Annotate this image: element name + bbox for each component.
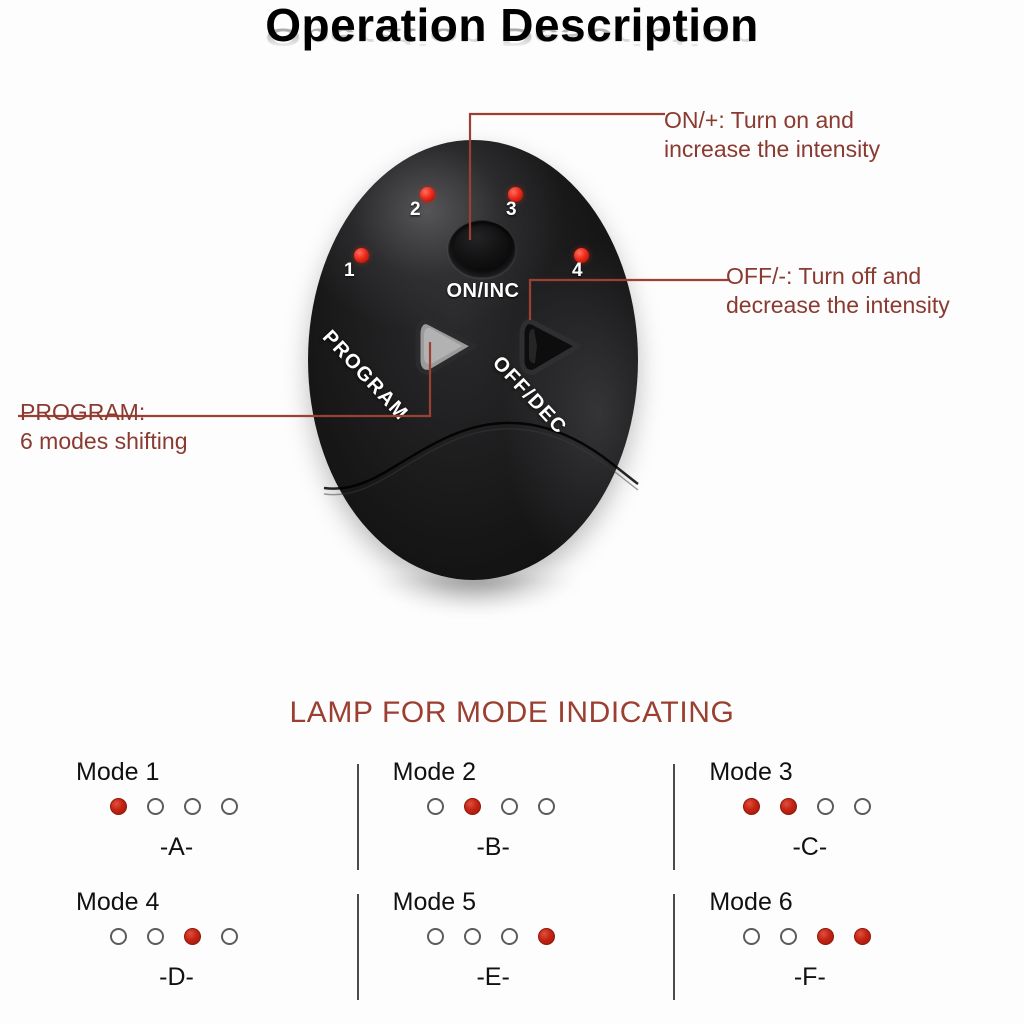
page-title-block: Operation Description Operation Descript… — [0, 2, 1024, 96]
lamp-6-1 — [743, 928, 760, 945]
mode-title-5: Mode 5 — [393, 888, 674, 917]
mode-letter-3: -C- — [717, 833, 902, 862]
on-inc-button[interactable] — [448, 220, 516, 278]
mode-cell-5: Mode 5 -E- — [357, 888, 674, 1018]
lamp-6-2 — [780, 928, 797, 945]
mode-letter-2: -B- — [401, 833, 586, 862]
program-button-label: PROGRAM — [317, 326, 412, 426]
mode-title-3: Mode 3 — [709, 758, 990, 787]
led-indicator-2 — [420, 187, 435, 202]
callout-on-plus-line1: ON/+: Turn on and — [664, 106, 880, 135]
device-seam-line — [318, 402, 644, 522]
lamp-4-2 — [147, 928, 164, 945]
on-inc-button-label: ON/INC — [418, 280, 548, 303]
mode-cell-1: Mode 1 -A- — [40, 758, 357, 888]
led-indicator-1 — [354, 248, 369, 263]
device-illustration: 1 2 3 4 ON/INC PROGRAM OFF/DEC — [300, 140, 660, 660]
lamp-3-3 — [817, 798, 834, 815]
lamp-row-2 — [427, 791, 674, 821]
mode-grid: Mode 1 -A- Mode 2 -B- Mode 3 -C- Mode 4 — [40, 758, 990, 1018]
mode-cell-6: Mode 6 -F- — [673, 888, 990, 1018]
callout-program-line2: 6 modes shifting — [20, 427, 187, 456]
page-title: Operation Description — [0, 2, 1024, 48]
lamp-2-1 — [427, 798, 444, 815]
device-body: 1 2 3 4 ON/INC PROGRAM OFF/DEC — [308, 140, 638, 580]
lamp-5-1 — [427, 928, 444, 945]
program-button[interactable] — [412, 312, 472, 372]
mode-cell-4: Mode 4 -D- — [40, 888, 357, 1018]
lamp-2-2 — [464, 798, 481, 815]
callout-on-plus: ON/+: Turn on and increase the intensity — [664, 106, 880, 165]
lamp-row-5 — [427, 921, 674, 951]
mode-cell-3: Mode 3 -C- — [673, 758, 990, 888]
led-label-4: 4 — [572, 260, 583, 282]
lamp-row-1 — [110, 791, 357, 821]
device-reflection — [340, 576, 610, 656]
mode-title-4: Mode 4 — [76, 888, 357, 917]
led-label-1: 1 — [344, 260, 355, 282]
callout-program-line1: PROGRAM: — [20, 398, 187, 427]
mode-letter-4: -D- — [84, 963, 269, 992]
lamp-section-heading: LAMP FOR MODE INDICATING — [0, 696, 1024, 730]
lamp-1-4 — [221, 798, 238, 815]
mode-letter-6: -F- — [717, 963, 902, 992]
mode-title-6: Mode 6 — [709, 888, 990, 917]
lamp-3-4 — [854, 798, 871, 815]
lamp-6-3 — [817, 928, 834, 945]
mode-letter-5: -E- — [401, 963, 586, 992]
callout-off-minus-line2: decrease the intensity — [726, 291, 950, 320]
led-label-2: 2 — [410, 199, 421, 221]
lamp-5-3 — [501, 928, 518, 945]
lamp-2-4 — [538, 798, 555, 815]
lamp-4-3 — [184, 928, 201, 945]
mode-title-2: Mode 2 — [393, 758, 674, 787]
mode-letter-1: -A- — [84, 833, 269, 862]
lamp-3-1 — [743, 798, 760, 815]
callout-on-plus-line2: increase the intensity — [664, 135, 880, 164]
callout-off-minus: OFF/-: Turn off and decrease the intensi… — [726, 262, 950, 321]
mode-title-1: Mode 1 — [76, 758, 357, 787]
mode-cell-2: Mode 2 -B- — [357, 758, 674, 888]
lamp-3-2 — [780, 798, 797, 815]
lamp-5-4 — [538, 928, 555, 945]
lamp-2-3 — [501, 798, 518, 815]
lamp-row-6 — [743, 921, 990, 951]
lamp-4-1 — [110, 928, 127, 945]
lamp-4-4 — [221, 928, 238, 945]
lamp-5-2 — [464, 928, 481, 945]
callout-program: PROGRAM: 6 modes shifting — [20, 398, 187, 457]
off-dec-button[interactable] — [516, 312, 576, 372]
callout-off-minus-line1: OFF/-: Turn off and — [726, 262, 950, 291]
lamp-1-3 — [184, 798, 201, 815]
led-label-3: 3 — [506, 199, 517, 221]
lamp-row-4 — [110, 921, 357, 951]
lamp-row-3 — [743, 791, 990, 821]
lamp-1-2 — [147, 798, 164, 815]
lamp-6-4 — [854, 928, 871, 945]
lamp-1-1 — [110, 798, 127, 815]
